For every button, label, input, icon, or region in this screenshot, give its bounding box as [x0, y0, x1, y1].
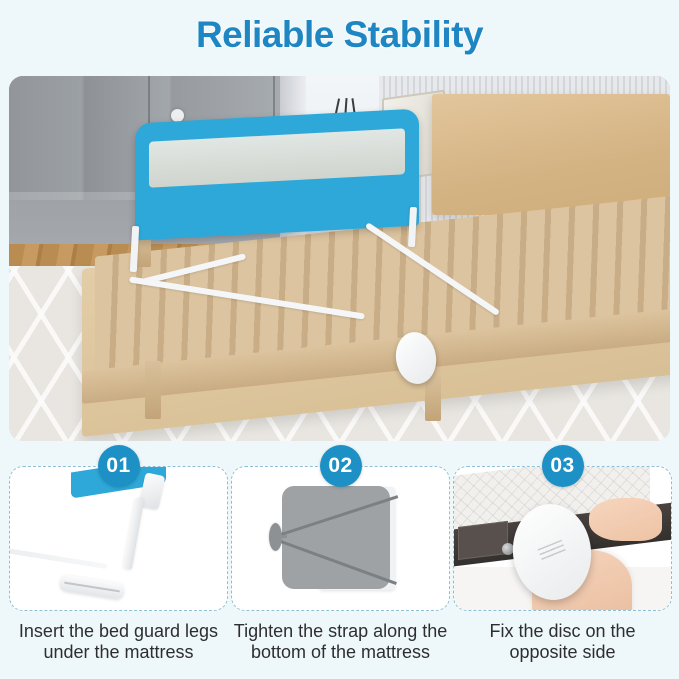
bed-headboard	[432, 94, 670, 214]
bed-leg	[425, 375, 441, 421]
step-3-caption: Fix the disc on the opposite side	[453, 621, 672, 663]
guard-leg-post	[123, 498, 144, 570]
disc-grip-lines	[537, 540, 566, 561]
guard-leg-foot	[59, 574, 125, 600]
step-2-caption: Tighten the strap along the bottom of th…	[231, 621, 450, 663]
guard-leg-arm	[9, 548, 107, 569]
guard-rail-mesh	[149, 128, 405, 188]
step-2-image	[231, 466, 450, 611]
step-3-badge: 03	[542, 445, 584, 487]
bed-leg	[145, 361, 161, 419]
infographic-page: Reliable Stability	[0, 0, 679, 679]
page-title: Reliable Stability	[0, 14, 679, 56]
step-1-badge: 01	[98, 445, 140, 487]
disc-diagram	[269, 523, 282, 551]
step-3-image	[453, 466, 672, 611]
hero-photo	[9, 76, 670, 441]
bed-guard-rail	[135, 109, 419, 241]
bed-drawer	[458, 521, 508, 561]
hand-upper	[589, 498, 663, 541]
wardrobe-knob-icon	[171, 109, 184, 122]
steps-row: 01 Insert the bed guard legs under the m…	[0, 445, 679, 679]
step-1-caption: Insert the bed guard legs under the matt…	[9, 621, 228, 663]
step-2-badge: 02	[320, 445, 362, 487]
step-1-image	[9, 466, 228, 611]
